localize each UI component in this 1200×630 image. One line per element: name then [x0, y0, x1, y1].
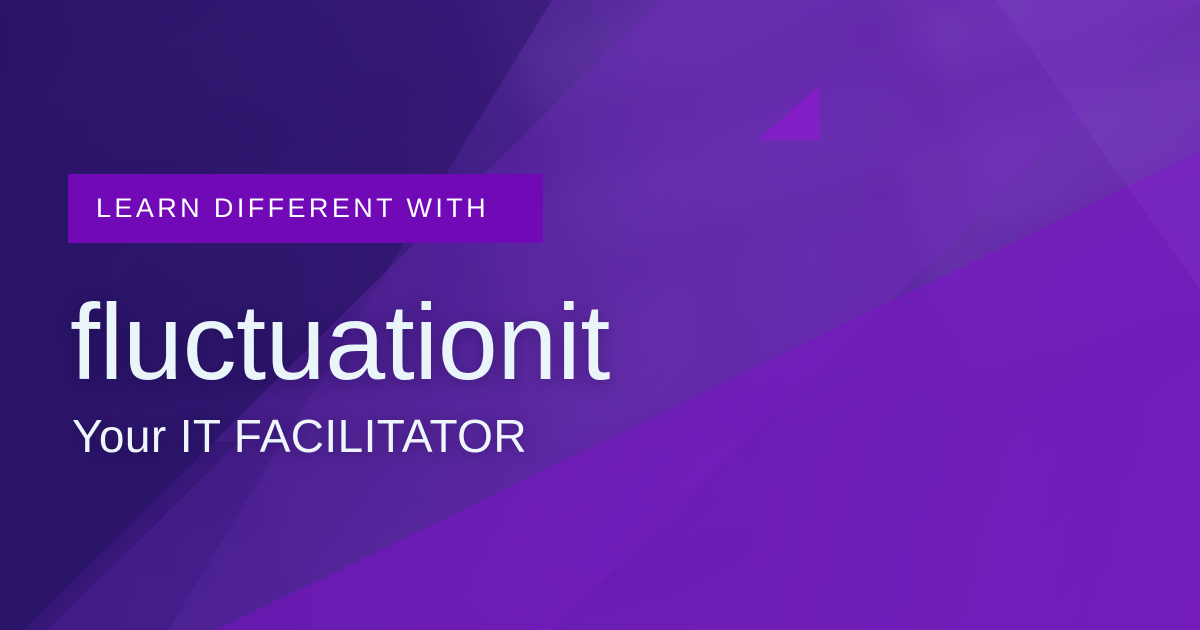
- eyebrow-badge: LEARN DIFFERENT WITH: [68, 174, 543, 243]
- page-title: fluctuationit: [70, 288, 610, 396]
- eyebrow-label: LEARN DIFFERENT WITH: [96, 193, 489, 224]
- page-subtitle: Your IT FACILITATOR: [72, 411, 527, 462]
- social-banner-card: × LEARN DIFFERENT WITH fluctuationit You…: [0, 0, 1200, 630]
- banner-content: LEARN DIFFERENT WITH fluctuationit Your …: [0, 0, 1200, 630]
